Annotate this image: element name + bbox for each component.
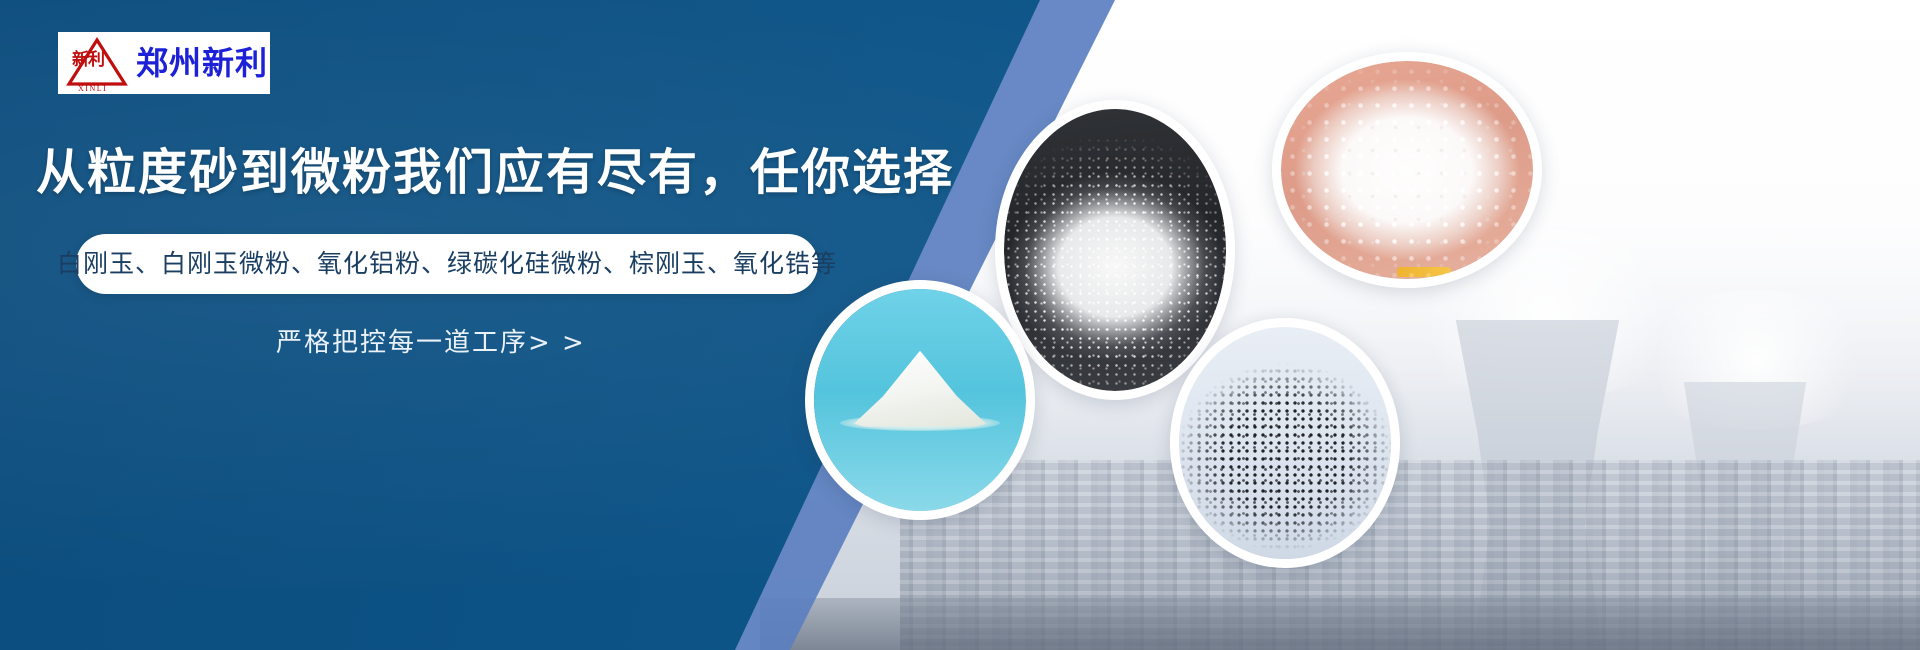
logo-mark-pinyin: XINLI [78, 85, 107, 93]
product-list-text: 白刚玉、白刚玉微粉、氧化铝粉、绿碳化硅微粉、棕刚玉、氧化锆等 [57, 250, 837, 278]
ground-strip [760, 598, 1920, 650]
powder-cone-shape [854, 351, 986, 427]
cta-link[interactable]: 严格把控每一道工序> > [276, 328, 586, 358]
page-title: 从粒度砂到微粉我们应有尽有，任你选择 [36, 142, 954, 204]
triangle-logo-icon: 新利 XINLI [66, 35, 128, 91]
product-photo-white-powder-cone[interactable] [805, 280, 1035, 520]
product-list-pill: 白刚玉、白刚玉微粉、氧化铝粉、绿碳化硅微粉、棕刚玉、氧化锆等 [76, 234, 818, 294]
promo-banner: 新利 XINLI 郑州新利 从粒度砂到微粉我们应有尽有，任你选择 白刚玉、白刚玉… [0, 0, 1920, 650]
logo-company-name: 郑州新利 [136, 46, 268, 80]
logo-mark-label: 新利 [72, 52, 104, 69]
product-photo-alumina-micropowder[interactable] [1272, 52, 1542, 288]
company-logo[interactable]: 新利 XINLI 郑州新利 [58, 32, 270, 94]
product-photo-green-silicon-carbide-grains[interactable] [1170, 318, 1400, 568]
